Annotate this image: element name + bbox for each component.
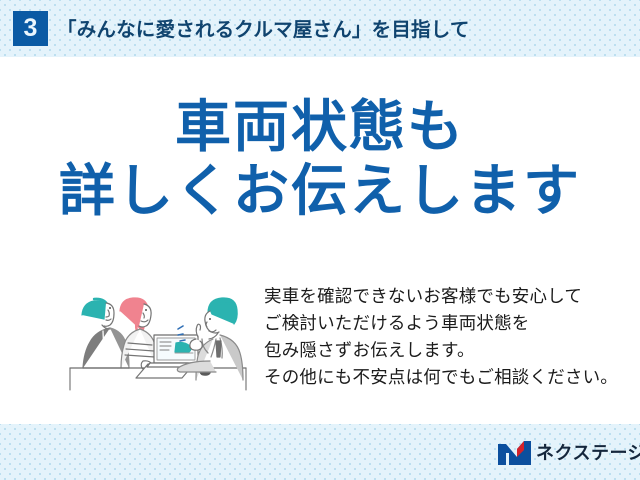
headline-line-2: 詳しくお伝えします xyxy=(0,158,640,224)
consultation-illustration-svg xyxy=(58,277,258,395)
promo-banner: 3 「みんなに愛されるクルマ屋さん」を目指して 車両状態も 詳しくお伝えします xyxy=(0,0,640,480)
consultation-illustration xyxy=(58,277,258,395)
nextage-n-mark-icon xyxy=(497,440,533,466)
body-copy-line-3: 包み隠さずお伝えします。 xyxy=(264,337,614,364)
body-copy: 実車を確認できないお客様でも安心して ご検討いただけるよう車両状態を 包み隠さず… xyxy=(264,283,614,391)
body-copy-line-2: ご検討いただけるよう車両状態を xyxy=(264,310,614,337)
header-title: 「みんなに愛されるクルマ屋さん」を目指して xyxy=(57,14,470,46)
brand-logo-text: ネクステージ xyxy=(536,442,640,464)
page-headline: 車両状態も 詳しくお伝えします xyxy=(0,96,640,224)
body-copy-line-4: その他にも不安点は何でもご相談ください。 xyxy=(264,364,614,391)
body-copy-line-1: 実車を確認できないお客様でも安心して xyxy=(264,283,614,310)
headline-line-1: 車両状態も xyxy=(0,96,640,158)
brand-logo: ネクステージ xyxy=(497,439,629,469)
step-number-badge: 3 xyxy=(13,11,48,46)
